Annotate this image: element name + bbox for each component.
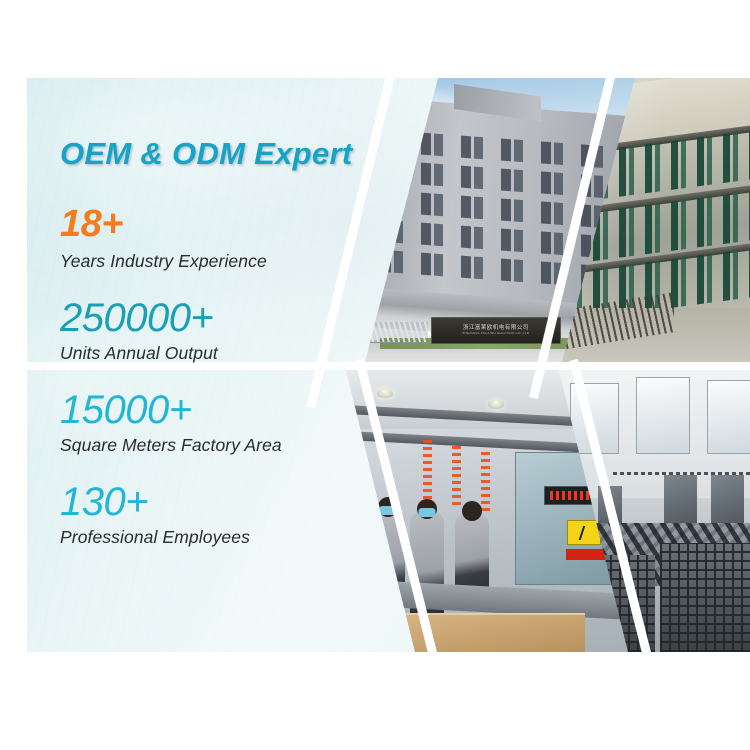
stats-text-column: OEM & ODM Expert 18+ Years Industry Expe… [60, 138, 380, 548]
stat-block-output: 250000+ Units Annual Output [60, 298, 380, 364]
wooden-crate [390, 613, 585, 652]
stat-label: Years Industry Experience [60, 251, 380, 272]
stat-block-factory-area: 15000+ Square Meters Factory Area [60, 390, 380, 456]
ceiling-lamp [488, 400, 504, 409]
page-title: OEM & ODM Expert [60, 138, 380, 169]
stat-value: 250000+ [60, 298, 380, 338]
stat-label: Professional Employees [60, 527, 380, 548]
stat-label: Units Annual Output [60, 343, 380, 364]
stat-value: 15000+ [60, 390, 380, 430]
stat-block-years: 18+ Years Industry Experience [60, 205, 380, 272]
window [570, 383, 619, 454]
air-hose-coil [423, 440, 432, 502]
red-warning-label [566, 549, 605, 560]
air-hose-coil [481, 452, 490, 514]
stat-value: 130+ [60, 482, 380, 522]
electrical-hazard-sign [567, 520, 602, 545]
window-row [341, 127, 642, 173]
company-name-en: ZHEJIANG FULAIOU ELECTRIC CO.,LTD [462, 332, 529, 335]
company-strength-banner: 浙江富莱欧机电有限公司 ZHEJIANG FULAIOU ELECTRIC CO… [27, 78, 750, 652]
factory-worker [455, 515, 489, 595]
wire-mesh-bin [660, 543, 750, 652]
air-hose-coil [452, 446, 461, 508]
stat-value: 18+ [60, 205, 380, 243]
window [636, 377, 690, 453]
stat-block-employees: 130+ Professional Employees [60, 482, 380, 548]
stat-label: Square Meters Factory Area [60, 435, 380, 456]
window [707, 380, 750, 454]
company-name-sign: 浙江富莱欧机电有限公司 ZHEJIANG FULAIOU ELECTRIC CO… [431, 317, 561, 345]
